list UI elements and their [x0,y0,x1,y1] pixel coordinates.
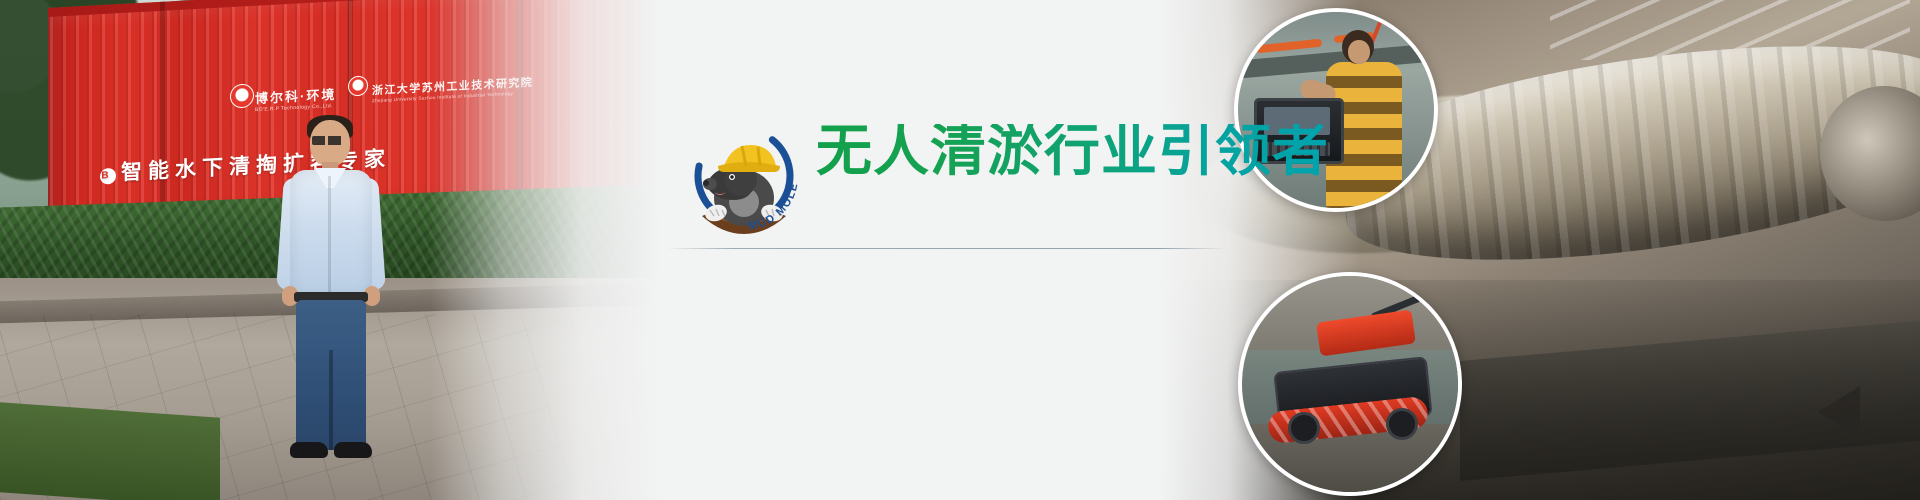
headline-divider [666,248,1226,249]
figure-shirt [290,170,372,298]
headline-text: 无人清淤行业引领者 [816,124,1329,180]
eyeglasses-icon [312,136,348,145]
robot-wheel [1386,408,1418,440]
left-photo-engineer-container: 博尔科·环境 BO'E.R.P Technology Co.,Ltd. 浙江大学… [0,0,660,500]
container-brand-name: 博尔科·环境 BO'E.R.P Technology Co.,Ltd. [255,84,336,113]
left-photo-fade [430,0,660,500]
figure-trouser-seam [329,350,333,450]
container-seam [160,2,165,232]
slogan-badge-icon: B [100,168,116,185]
arrow-icon [1818,386,1860,438]
hero-banner: 博尔科·环境 BO'E.R.P Technology Co.,Ltd. 浙江大学… [0,0,1920,500]
mud-mole-logo[interactable]: MUD MOLE [680,112,808,240]
figure-shirt-placket [328,176,331,292]
mud-mole-logo-icon: MUD MOLE [680,112,808,240]
figure-right-shoe [334,442,372,458]
engineer-figure [276,120,386,460]
center-content: MUD MOLE 无人清淤行业引领者 [640,0,1280,500]
operator-face [1348,40,1370,64]
grass-patch [0,402,220,500]
robot-wheel [1288,412,1320,444]
figure-left-shoe [290,442,328,458]
